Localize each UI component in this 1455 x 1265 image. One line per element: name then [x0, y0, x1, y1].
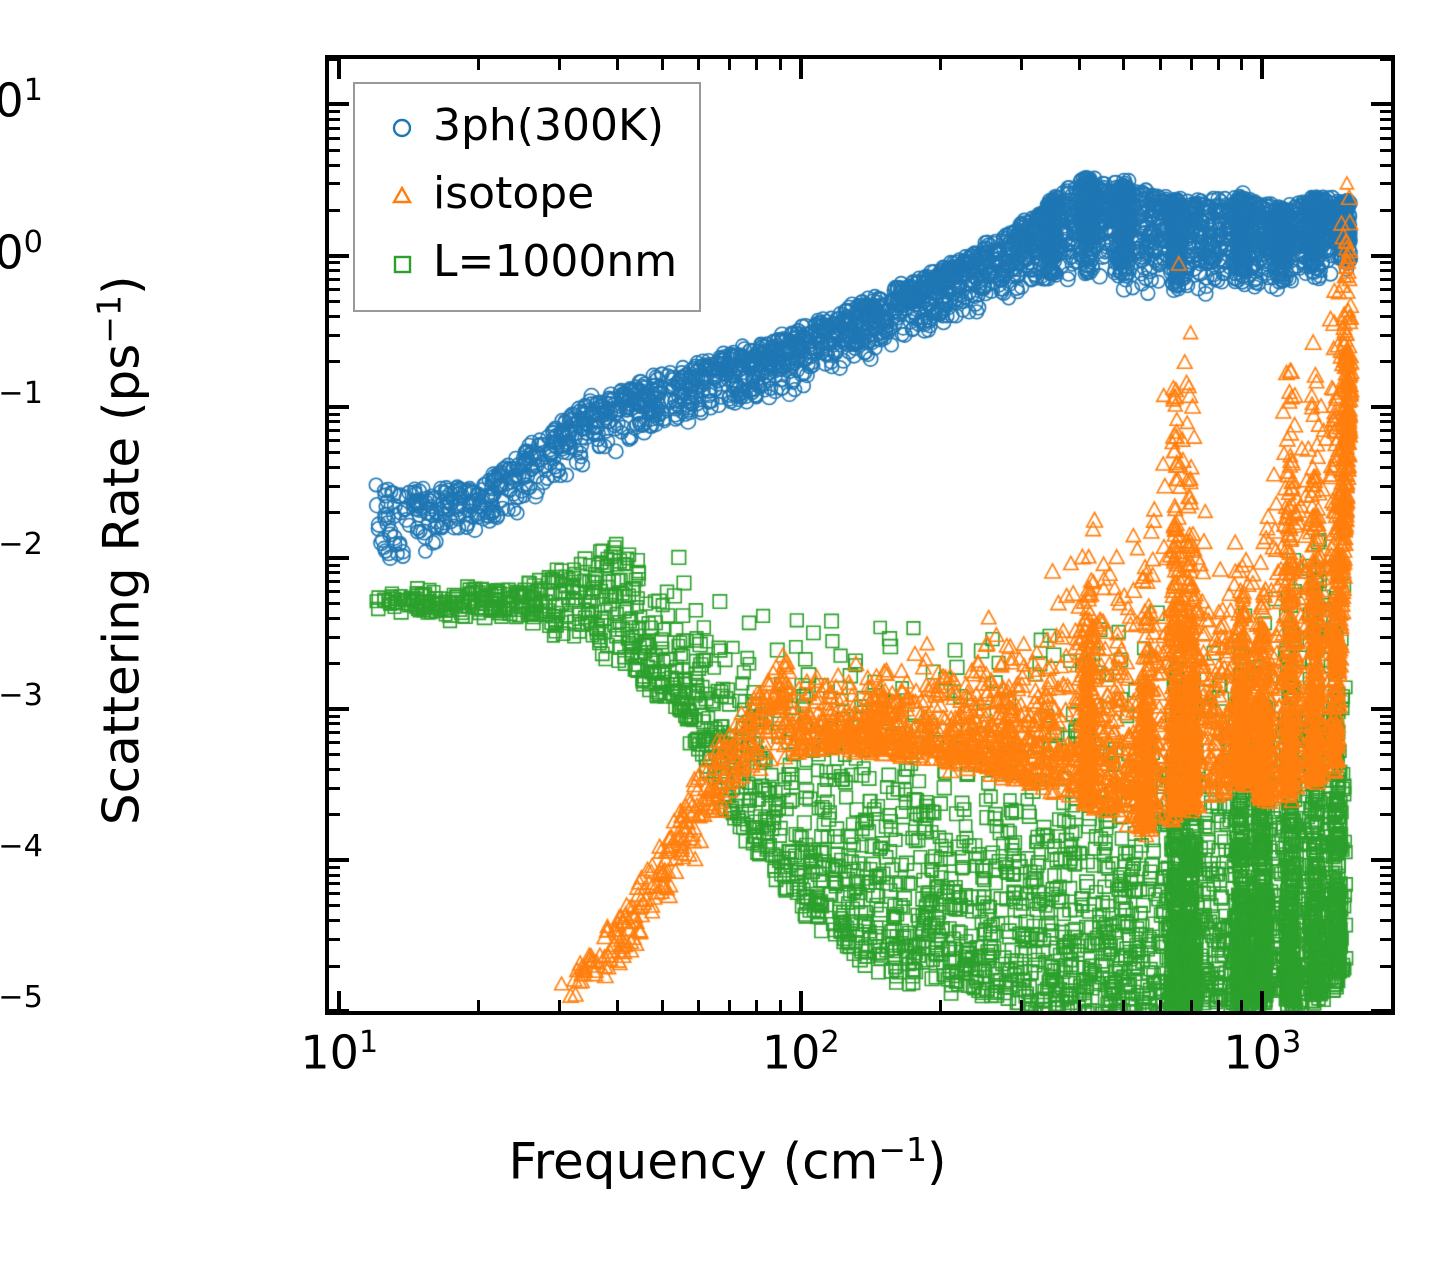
y-tick-major	[329, 254, 349, 258]
y-tick-exponent: 1	[24, 73, 43, 108]
x-tick-label: 103	[1172, 1028, 1352, 1075]
y-axis-title: Scattering Rate (ps−1)	[90, 130, 151, 970]
y-tick-minor	[329, 722, 340, 725]
y-tick-minor	[329, 288, 340, 291]
y-tick-minor-right	[1380, 118, 1391, 121]
x-tick-minor	[1020, 1000, 1023, 1011]
y-tick-minor	[329, 768, 340, 771]
x-tick-minor	[755, 1000, 758, 1011]
y-tick-minor-right	[1380, 182, 1391, 185]
y-tick-minor	[329, 938, 340, 941]
y-tick-minor-right	[1380, 602, 1391, 605]
y-tick-minor-right	[1380, 420, 1391, 423]
x-tick-minor-top	[1078, 59, 1081, 70]
x-tick-minor-top	[697, 59, 700, 70]
y-tick-minor-right	[1380, 261, 1391, 264]
x-tick-major-top	[337, 59, 341, 79]
y-tick-major	[329, 405, 349, 409]
y-tick-major-right	[1371, 1009, 1391, 1013]
y-tick-minor-right	[1380, 874, 1391, 877]
x-tick-minor	[939, 1000, 942, 1011]
x-tick-major	[799, 991, 803, 1011]
y-tick-minor-right	[1380, 269, 1391, 272]
x-tick-minor-top	[477, 59, 480, 70]
y-tick-minor-right	[1380, 787, 1391, 790]
y-tick-major-right	[1371, 102, 1391, 106]
y-tick-minor-right	[1380, 590, 1391, 593]
x-tick-minor	[1078, 1000, 1081, 1011]
y-tick-minor-right	[1380, 278, 1391, 281]
y-tick-label: 10−2	[0, 530, 43, 577]
y-tick-minor	[329, 874, 340, 877]
y-tick-minor	[329, 882, 340, 885]
y-tick-minor-right	[1380, 813, 1391, 816]
y-tick-minor	[329, 753, 340, 756]
y-tick-minor-right	[1380, 451, 1391, 454]
y-tick-minor-right	[1380, 511, 1391, 514]
x-axis-title-exponent: −1	[878, 1130, 927, 1169]
x-axis-title: Frequency (cm−1)	[0, 1130, 1455, 1191]
x-tick-minor	[558, 1000, 561, 1011]
x-tick-label: 102	[711, 1028, 891, 1075]
x-tick-minor	[1159, 1000, 1162, 1011]
y-tick-minor	[329, 787, 340, 790]
y-tick-minor-right	[1380, 741, 1391, 744]
y-tick-minor	[329, 602, 340, 605]
y-tick-minor-right	[1380, 413, 1391, 416]
y-tick-minor	[329, 580, 340, 583]
y-tick-minor-right	[1380, 571, 1391, 574]
y-tick-minor-right	[1380, 731, 1391, 734]
y-tick-minor	[329, 662, 340, 665]
y-tick-minor	[329, 741, 340, 744]
y-tick-minor-right	[1380, 965, 1391, 968]
x-tick-exponent: 2	[820, 1025, 839, 1060]
x-tick-minor	[1240, 1000, 1243, 1011]
x-axis-title-tail: )	[927, 1133, 947, 1191]
circle-marker-icon	[371, 115, 433, 141]
y-tick-minor-right	[1380, 882, 1391, 885]
legend-entry-circle[interactable]: 3ph(300K)	[371, 94, 677, 162]
x-tick-minor	[1217, 1000, 1220, 1011]
y-tick-minor	[329, 511, 340, 514]
y-tick-minor	[329, 636, 340, 639]
y-tick-minor-right	[1380, 137, 1391, 140]
y-tick-minor-right	[1380, 485, 1391, 488]
y-tick-minor	[329, 590, 340, 593]
y-tick-minor	[329, 731, 340, 734]
x-tick-minor-top	[1122, 59, 1125, 70]
y-tick-minor	[329, 439, 340, 442]
legend-box: 3ph(300K)isotopeL=1000nm	[353, 82, 701, 312]
x-tick-major	[1260, 991, 1264, 1011]
x-tick-minor	[728, 1000, 731, 1011]
y-tick-label: 10−4	[0, 832, 43, 879]
y-tick-major	[329, 858, 349, 862]
y-tick-minor	[329, 904, 340, 907]
x-tick-minor	[661, 1000, 664, 1011]
y-tick-minor-right	[1380, 360, 1391, 363]
y-tick-minor	[329, 261, 340, 264]
y-tick-minor-right	[1380, 466, 1391, 469]
x-tick-label: 101	[249, 1028, 429, 1075]
legend-label: 3ph(300K)	[433, 104, 664, 152]
y-tick-exponent: −2	[0, 527, 43, 562]
y-tick-minor	[329, 137, 340, 140]
x-tick-minor-top	[1159, 59, 1162, 70]
scattering-rate-figure: 10110010−110−210−310−410−5 101102103 Fre…	[0, 0, 1455, 1265]
y-tick-base: 10	[0, 225, 24, 279]
y-tick-minor	[329, 300, 340, 303]
legend-entry-square[interactable]: L=1000nm	[371, 230, 677, 298]
y-tick-minor	[329, 813, 340, 816]
y-tick-label: 10−5	[0, 983, 43, 1030]
y-tick-minor-right	[1380, 58, 1391, 61]
x-tick-minor	[1122, 1000, 1125, 1011]
y-tick-minor-right	[1380, 722, 1391, 725]
x-tick-minor	[616, 1000, 619, 1011]
x-tick-minor-top	[1240, 59, 1243, 70]
y-tick-label: 101	[0, 76, 43, 123]
y-tick-minor	[329, 420, 340, 423]
x-tick-base: 10	[762, 1025, 821, 1079]
legend-label: L=1000nm	[433, 240, 677, 288]
y-axis-title-tail: )	[92, 276, 150, 296]
y-tick-minor-right	[1380, 110, 1391, 113]
x-tick-base: 10	[300, 1025, 359, 1079]
y-tick-minor-right	[1380, 617, 1391, 620]
y-tick-major-right	[1371, 858, 1391, 862]
y-tick-major	[329, 707, 349, 711]
y-tick-minor-right	[1380, 429, 1391, 432]
y-tick-minor	[329, 315, 340, 318]
x-tick-minor-top	[1190, 59, 1193, 70]
y-tick-minor	[329, 164, 340, 167]
x-tick-base: 10	[1223, 1025, 1282, 1079]
y-tick-minor	[329, 269, 340, 272]
y-tick-minor	[329, 278, 340, 281]
x-tick-minor-top	[616, 59, 619, 70]
y-tick-exponent: −5	[0, 980, 43, 1015]
y-tick-minor	[329, 127, 340, 130]
x-tick-minor-top	[1217, 59, 1220, 70]
y-tick-minor	[329, 965, 340, 968]
y-tick-minor	[329, 182, 340, 185]
y-tick-minor-right	[1380, 334, 1391, 337]
x-tick-minor-top	[661, 59, 664, 70]
x-tick-exponent: 3	[1282, 1025, 1301, 1060]
legend-label: isotope	[433, 172, 594, 220]
y-tick-minor-right	[1380, 580, 1391, 583]
x-tick-major-top	[799, 59, 803, 79]
y-tick-major-right	[1371, 707, 1391, 711]
y-tick-label: 10−3	[0, 681, 43, 728]
y-axis-title-base: Scattering Rate (ps	[92, 344, 150, 825]
x-tick-minor-top	[939, 59, 942, 70]
x-tick-major-top	[1260, 59, 1264, 79]
y-tick-minor-right	[1380, 768, 1391, 771]
y-tick-minor	[329, 892, 340, 895]
x-tick-minor	[779, 1000, 782, 1011]
y-tick-minor	[329, 919, 340, 922]
y-tick-minor	[329, 360, 340, 363]
y-tick-minor-right	[1380, 636, 1391, 639]
x-tick-minor	[697, 1000, 700, 1011]
y-tick-minor-right	[1380, 904, 1391, 907]
y-tick-label: 100	[0, 228, 43, 275]
y-tick-label: 10−1	[0, 379, 43, 426]
y-tick-minor	[329, 334, 340, 337]
y-tick-minor	[329, 429, 340, 432]
y-tick-exponent: 0	[24, 225, 43, 260]
y-tick-minor	[329, 466, 340, 469]
y-tick-major	[329, 102, 349, 106]
x-tick-minor-top	[728, 59, 731, 70]
x-axis-title-base: Frequency (cm	[508, 1133, 878, 1191]
y-tick-minor	[329, 451, 340, 454]
y-axis-title-exponent: −1	[90, 295, 129, 344]
y-tick-minor-right	[1380, 439, 1391, 442]
y-tick-minor	[329, 118, 340, 121]
y-tick-minor-right	[1380, 892, 1391, 895]
x-tick-minor-top	[779, 59, 782, 70]
y-tick-minor	[329, 209, 340, 212]
y-tick-minor	[329, 617, 340, 620]
x-tick-minor-top	[755, 59, 758, 70]
triangle-marker-icon	[371, 183, 433, 209]
y-tick-minor-right	[1380, 919, 1391, 922]
y-tick-minor-right	[1380, 164, 1391, 167]
y-tick-minor-right	[1380, 288, 1391, 291]
y-tick-minor-right	[1380, 209, 1391, 212]
y-tick-minor-right	[1380, 315, 1391, 318]
y-tick-minor	[329, 571, 340, 574]
y-tick-exponent: −1	[0, 376, 43, 411]
legend-entry-triangle[interactable]: isotope	[371, 162, 677, 230]
y-tick-exponent: −4	[0, 829, 43, 864]
y-tick-minor-right	[1380, 715, 1391, 718]
y-tick-base: 10	[0, 74, 24, 128]
y-tick-major	[329, 556, 349, 560]
x-tick-major	[337, 991, 341, 1011]
y-tick-minor-right	[1380, 149, 1391, 152]
y-tick-minor	[329, 866, 340, 869]
x-tick-minor-top	[1020, 59, 1023, 70]
y-tick-minor	[329, 149, 340, 152]
y-tick-minor	[329, 715, 340, 718]
y-tick-minor-right	[1380, 866, 1391, 869]
y-tick-minor-right	[1380, 127, 1391, 130]
y-tick-minor	[329, 110, 340, 113]
x-tick-exponent: 1	[359, 1025, 378, 1060]
square-marker-icon	[371, 251, 433, 277]
y-tick-minor-right	[1380, 300, 1391, 303]
y-tick-minor	[329, 485, 340, 488]
y-tick-minor-right	[1380, 564, 1391, 567]
y-tick-minor	[329, 413, 340, 416]
x-tick-minor	[1190, 1000, 1193, 1011]
y-tick-minor-right	[1380, 938, 1391, 941]
y-tick-minor-right	[1380, 662, 1391, 665]
x-tick-minor	[477, 1000, 480, 1011]
y-tick-minor-right	[1380, 753, 1391, 756]
y-tick-major-right	[1371, 556, 1391, 560]
y-tick-exponent: −3	[0, 678, 43, 713]
y-tick-major-right	[1371, 254, 1391, 258]
x-tick-minor-top	[558, 59, 561, 70]
y-tick-major-right	[1371, 405, 1391, 409]
y-tick-minor	[329, 564, 340, 567]
